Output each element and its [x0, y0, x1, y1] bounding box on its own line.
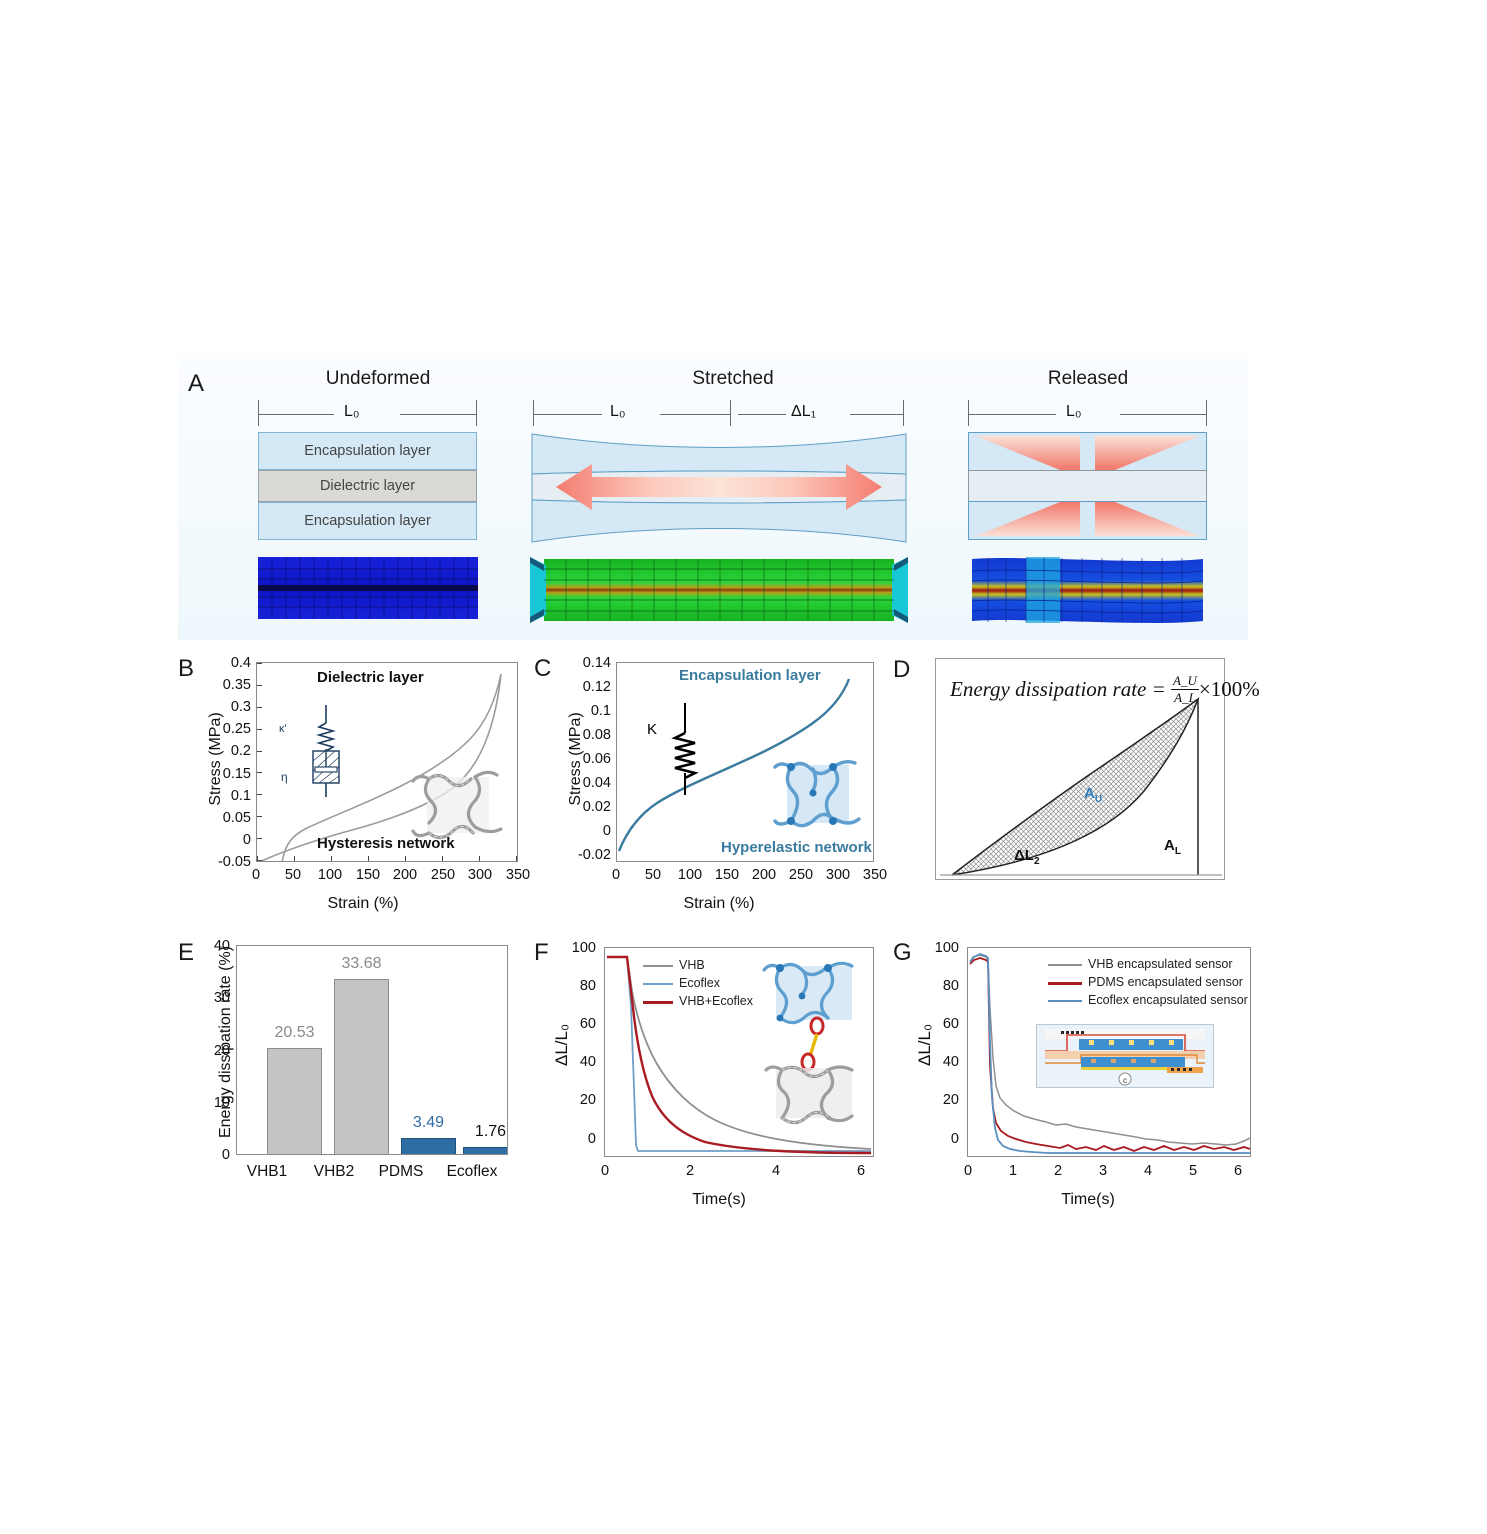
dim-line	[738, 414, 786, 415]
k-label: K	[647, 721, 657, 738]
panel-c-ytick: 0	[556, 823, 611, 839]
panel-c-xtick: 350	[860, 867, 890, 883]
figure-root: A Undeformed Stretched Released L₀ Encap…	[0, 0, 1487, 1534]
dim-line	[534, 414, 602, 415]
dim-line	[850, 414, 903, 415]
panel-c-xtick: 100	[675, 867, 705, 883]
panel-b-xtick: 50	[278, 867, 308, 883]
panel-g-xtick: 2	[1043, 1163, 1073, 1179]
panel-b-annotation-title: Dielectric layer	[317, 669, 424, 686]
dim-tick	[968, 400, 969, 426]
panel-b-ytick: 0.05	[196, 810, 251, 826]
tick-mark	[368, 856, 369, 861]
panel-c-xtick: 250	[786, 867, 816, 883]
panel-d-label: D	[893, 656, 910, 684]
panel-b-xtick: 150	[353, 867, 383, 883]
panel-f-xtick: 0	[590, 1163, 620, 1179]
fem-stretched	[530, 557, 908, 623]
panel-e-ytick: 20	[188, 1043, 230, 1059]
panel-b-ytick: 0.25	[196, 721, 251, 737]
dim-label-delta-l1: ΔL₁	[791, 403, 816, 421]
panel-f-xlabel: Time(s)	[594, 1191, 844, 1209]
panel-b-ytick: 0	[196, 832, 251, 848]
panel-f-ytick: 60	[554, 1016, 596, 1032]
panel-f-xtick: 6	[846, 1163, 876, 1179]
panel-b-label: B	[178, 655, 194, 683]
layer-encapsulation-top: Encapsulation layer	[258, 432, 477, 470]
dim-tick	[903, 400, 904, 426]
tick-mark	[257, 729, 262, 730]
dim-tick	[1206, 400, 1207, 426]
panel-b: B Stress (MPa) Strain (%) Dielectric lay…	[178, 650, 528, 930]
panel-e-ylabel: Energy dissipation rate (%)	[217, 932, 235, 1152]
panel-f-legend-swatch-vhb-ecoflex	[643, 1001, 673, 1004]
panel-b-plot-area: Dielectric layer Hysteresis network κ' η	[256, 662, 518, 862]
panel-g-xtick: 6	[1223, 1163, 1253, 1179]
device-inset-graphic: c	[1037, 1025, 1213, 1087]
panel-a-title-released: Released	[938, 368, 1238, 390]
delta-l2-label: ΔL2	[1014, 847, 1040, 867]
panel-c-xtick: 150	[712, 867, 742, 883]
panel-g-legend-swatch-ecoflex	[1048, 1000, 1082, 1002]
panel-e-ytick: 30	[188, 990, 230, 1006]
panel-e: E Energy dissipation rate (%) 20.53 33.6…	[178, 935, 528, 1225]
panel-b-ytick: 0.15	[196, 766, 251, 782]
area-lower-label: AL	[1164, 837, 1181, 857]
dual-network-inset	[760, 960, 872, 1128]
panel-d-plot-area: Energy dissipation rate = A_U A_L ×100% …	[935, 658, 1225, 880]
panel-g: G ΔL/L₀ Time(s) VHB encapsulated sensor …	[893, 935, 1273, 1230]
panel-g-xtick: 5	[1178, 1163, 1208, 1179]
panel-g-legend-swatch-vhb	[1048, 964, 1082, 966]
tick-mark	[516, 856, 517, 861]
tick-mark	[257, 685, 262, 686]
panel-f-ytick: 0	[554, 1131, 596, 1147]
spring-icon	[663, 703, 707, 795]
panel-g-ytick: 40	[917, 1054, 959, 1070]
bar-pdms	[401, 1138, 456, 1155]
tick-mark	[257, 772, 262, 773]
panel-g-ytick: 20	[917, 1092, 959, 1108]
panel-e-ytick: 10	[188, 1095, 230, 1111]
panel-c-annotation-network: Hyperelastic network	[721, 839, 872, 856]
panel-c-ytick: 0.04	[556, 775, 611, 791]
panel-f-ytick: 40	[554, 1054, 596, 1070]
tick-mark	[479, 856, 480, 861]
panel-c-xtick: 300	[823, 867, 853, 883]
panel-c-xtick: 50	[638, 867, 668, 883]
panel-f-legend-swatch-vhb	[643, 965, 673, 967]
panel-e-ytick: 0	[188, 1147, 230, 1163]
panel-g-legend-label-pdms: PDMS encapsulated sensor	[1088, 975, 1243, 989]
panel-b-xtick: 350	[503, 867, 533, 883]
tick-mark	[257, 816, 262, 817]
panel-f-xtick: 4	[761, 1163, 791, 1179]
panel-g-xtick: 4	[1133, 1163, 1163, 1179]
fem-released	[968, 557, 1207, 623]
panel-g-plot-area: VHB encapsulated sensor PDMS encapsulate…	[967, 947, 1251, 1157]
area-upper-label: AU	[1084, 785, 1102, 805]
bar-vhb2	[334, 979, 389, 1155]
panel-b-xtick: 0	[241, 867, 271, 883]
released-stack	[968, 432, 1207, 540]
panel-b-ytick: 0.1	[196, 788, 251, 804]
dim-line	[1120, 414, 1206, 415]
panel-a-label: A	[188, 370, 204, 398]
panel-c-plot-area: Encapsulation layer Hyperelastic network…	[616, 662, 874, 862]
layer-encapsulation-bottom: Encapsulation layer	[258, 502, 477, 540]
panel-f-legend-label-vhb-ecoflex: VHB+Ecoflex	[679, 994, 753, 1008]
tick-mark	[257, 794, 262, 795]
panel-g-legend-swatch-pdms	[1048, 982, 1082, 985]
panel-f-ytick: 80	[554, 978, 596, 994]
panel-c-annotation-title: Encapsulation layer	[679, 667, 821, 684]
panel-g-legend-label-ecoflex: Ecoflex encapsulated sensor	[1088, 993, 1248, 1007]
panel-b-ytick: 0.4	[196, 655, 251, 671]
panel-e-xtick-ecoflex: Ecoflex	[428, 1163, 516, 1181]
dim-tick	[730, 400, 731, 426]
panel-b-ytick: 0.2	[196, 743, 251, 759]
panel-c-xtick: 200	[749, 867, 779, 883]
panel-a-title-undeformed: Undeformed	[228, 368, 528, 390]
tick-mark	[331, 856, 332, 861]
hysteresis-network-icon	[409, 763, 513, 847]
dim-line	[400, 414, 476, 415]
device-inset: c	[1036, 1024, 1214, 1088]
dim-line	[259, 414, 334, 415]
tick-mark	[257, 751, 262, 752]
panel-f-ytick: 100	[554, 940, 596, 956]
panel-c-ytick: 0.08	[556, 727, 611, 743]
panel-d: D Energy dissipation rate = A_U A_L ×100…	[893, 650, 1263, 900]
kappa-prime-label: κ'	[279, 723, 287, 735]
panel-f-legend-swatch-ecoflex	[643, 983, 673, 985]
dim-label-l0-released: L₀	[1066, 403, 1082, 421]
panel-g-ytick: 80	[917, 978, 959, 994]
panel-g-xtick: 0	[953, 1163, 983, 1179]
fem-undeformed	[258, 557, 478, 619]
eta-label: η	[281, 770, 288, 784]
tick-mark	[257, 663, 262, 664]
dim-tick	[476, 400, 477, 426]
panel-f-label: F	[534, 939, 549, 967]
panel-b-xtick: 100	[315, 867, 345, 883]
tick-mark	[294, 856, 295, 861]
tick-mark	[257, 838, 262, 839]
hyperelastic-network-icon	[769, 753, 873, 839]
hysteresis-loop-shape	[936, 659, 1226, 881]
layer-dielectric: Dielectric layer	[258, 470, 477, 502]
panel-a-title-stretched: Stretched	[583, 368, 883, 390]
panel-b-xtick: 200	[390, 867, 420, 883]
panel-b-xtick: 300	[465, 867, 495, 883]
panel-c-ytick: 0.06	[556, 751, 611, 767]
panel-g-xtick: 3	[1088, 1163, 1118, 1179]
tick-mark	[405, 856, 406, 861]
panel-c: C Stress (MPa) Strain (%) Encapsulation …	[534, 650, 884, 930]
panel-c-ytick: -0.02	[550, 847, 611, 863]
panel-f-legend-label-ecoflex: Ecoflex	[679, 976, 720, 990]
panel-f-xtick: 2	[675, 1163, 705, 1179]
panel-c-ytick: 0.14	[556, 655, 611, 671]
panel-c-label: C	[534, 655, 551, 683]
panel-g-xtick: 1	[998, 1163, 1028, 1179]
bar-vhb1	[267, 1048, 322, 1155]
panel-a: A Undeformed Stretched Released L₀ Encap…	[178, 352, 1248, 640]
spring-dashpot-icon	[297, 705, 355, 797]
tick-mark	[257, 856, 258, 861]
dim-tick	[533, 400, 534, 426]
panel-g-legend-label-vhb: VHB encapsulated sensor	[1088, 957, 1233, 971]
dim-line	[969, 414, 1056, 415]
panel-g-ytick: 0	[917, 1131, 959, 1147]
bar-value-vhb2: 33.68	[324, 955, 399, 973]
tick-mark	[442, 856, 443, 861]
panel-b-ytick: 0.3	[196, 699, 251, 715]
panel-e-plot-area: 20.53 33.68 3.49 1.76	[236, 945, 508, 1155]
panel-e-ytick: 40	[188, 938, 230, 954]
panel-b-xlabel: Strain (%)	[238, 895, 488, 913]
panel-b-ytick: 0.35	[196, 677, 251, 693]
svg-text:c: c	[1123, 1076, 1127, 1085]
dim-line	[660, 414, 730, 415]
panel-g-xlabel: Time(s)	[963, 1191, 1213, 1209]
bar-value-ecoflex: 1.76	[458, 1123, 508, 1141]
panel-g-label: G	[893, 939, 912, 967]
panel-f-ytick: 20	[554, 1092, 596, 1108]
tick-mark	[257, 707, 262, 708]
panel-c-ytick: 0.12	[556, 679, 611, 695]
dim-label-l0-stretched: L₀	[610, 403, 626, 421]
panel-f: F ΔL/L₀ Time(s) VHB Ecoflex VHB+Ecoflex	[534, 935, 894, 1230]
stretched-stack	[530, 430, 908, 548]
panel-f-legend-label-vhb: VHB	[679, 958, 705, 972]
dim-tick	[258, 400, 259, 426]
panel-b-xtick: 250	[428, 867, 458, 883]
panel-c-ytick: 0.1	[556, 703, 611, 719]
panel-c-xtick: 0	[601, 867, 631, 883]
bar-value-vhb1: 20.53	[257, 1024, 332, 1042]
panel-c-xlabel: Strain (%)	[594, 895, 844, 913]
panel-c-ytick: 0.02	[556, 799, 611, 815]
panel-g-ytick: 100	[917, 940, 959, 956]
panel-f-plot-area: VHB Ecoflex VHB+Ecoflex	[604, 947, 874, 1157]
bar-ecoflex	[463, 1147, 508, 1155]
panel-g-ytick: 60	[917, 1016, 959, 1032]
bar-value-pdms: 3.49	[396, 1114, 461, 1132]
dim-label-l0: L₀	[344, 403, 360, 421]
